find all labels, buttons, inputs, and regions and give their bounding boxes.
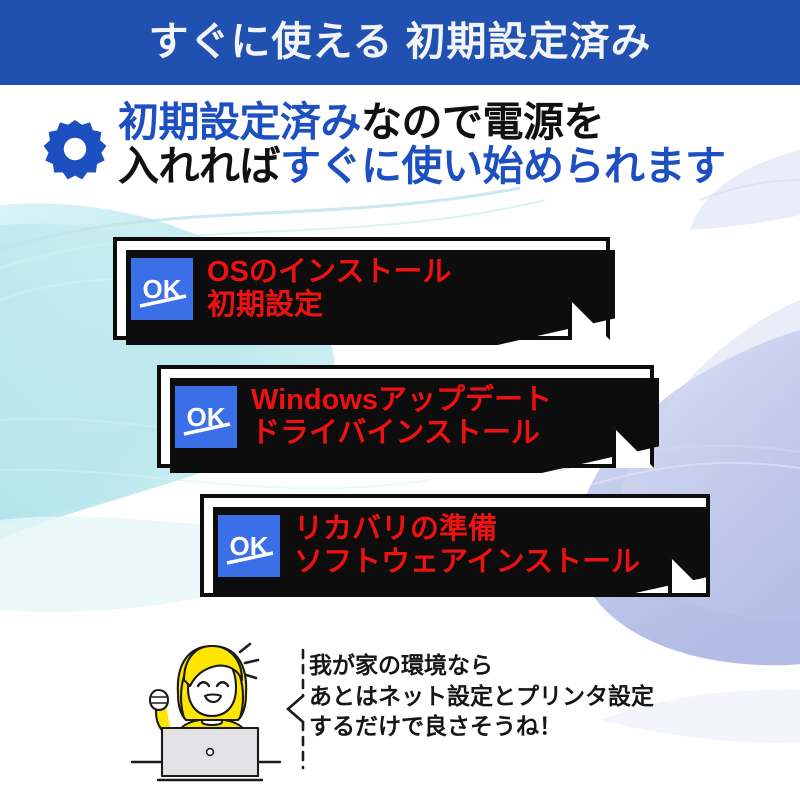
ok-badge-icon: OK <box>131 258 193 320</box>
headline-line-1: 初期設定済みなので電源を <box>118 100 782 144</box>
speech-text: 我が家の環境なら あとはネット設定とプリンタ設定 するだけで良さそうね！ <box>309 650 779 742</box>
card-line-1: Windowsアップデート <box>251 384 642 416</box>
ok-card-2: OK Windowsアップデート ドライバインストール <box>157 365 654 468</box>
headline-line1-blue: 初期設定済み <box>118 99 361 145</box>
card-line-2: ソフトウェアインストール <box>294 546 698 578</box>
speech-line-2: あとはネット設定とプリンタ設定 <box>309 681 779 712</box>
speech-bubble-bracket <box>283 648 309 770</box>
speech-line-3: するだけで良さそうね！ <box>309 711 779 742</box>
woman-with-laptop-illustration <box>128 636 293 796</box>
headline-line1-black: なので電源を <box>361 99 604 145</box>
speech-line-1: 我が家の環境なら <box>309 650 779 681</box>
headline-text: 初期設定済みなので電源を 入れればすぐに使い始められます <box>118 100 782 189</box>
promo-graphic-page: すぐに使える 初期設定済み 初期設定済みなので電源を 入れればすぐに使い始められ… <box>0 0 800 800</box>
card-text: リカバリの準備 ソフトウェアインストール <box>294 513 698 578</box>
ok-card-3: OK リカバリの準備 ソフトウェアインストール <box>200 494 710 597</box>
card-line-2: ドライバインストール <box>251 417 642 449</box>
card-text: Windowsアップデート ドライバインストール <box>251 384 642 449</box>
card-line-1: リカバリの準備 <box>294 513 698 545</box>
card-line-2: 初期設定 <box>207 289 598 321</box>
headline-line2-blue: すぐに使い始められます <box>280 143 726 189</box>
ok-card-1: OK OSのインストール 初期設定 <box>113 237 610 340</box>
headline-block: 初期設定済みなので電源を 入れればすぐに使い始められます <box>42 100 782 189</box>
headline-line-2: 入れればすぐに使い始められます <box>118 144 782 188</box>
header-banner: すぐに使える 初期設定済み <box>0 0 800 85</box>
ok-badge-icon: OK <box>175 386 237 448</box>
ok-badge-icon: OK <box>218 515 280 577</box>
gear-icon <box>42 116 108 182</box>
headline-line2-black: 入れれば <box>118 143 280 189</box>
card-line-1: OSのインストール <box>207 256 598 288</box>
header-title: すぐに使える 初期設定済み <box>149 22 652 62</box>
card-text: OSのインストール 初期設定 <box>207 256 598 321</box>
